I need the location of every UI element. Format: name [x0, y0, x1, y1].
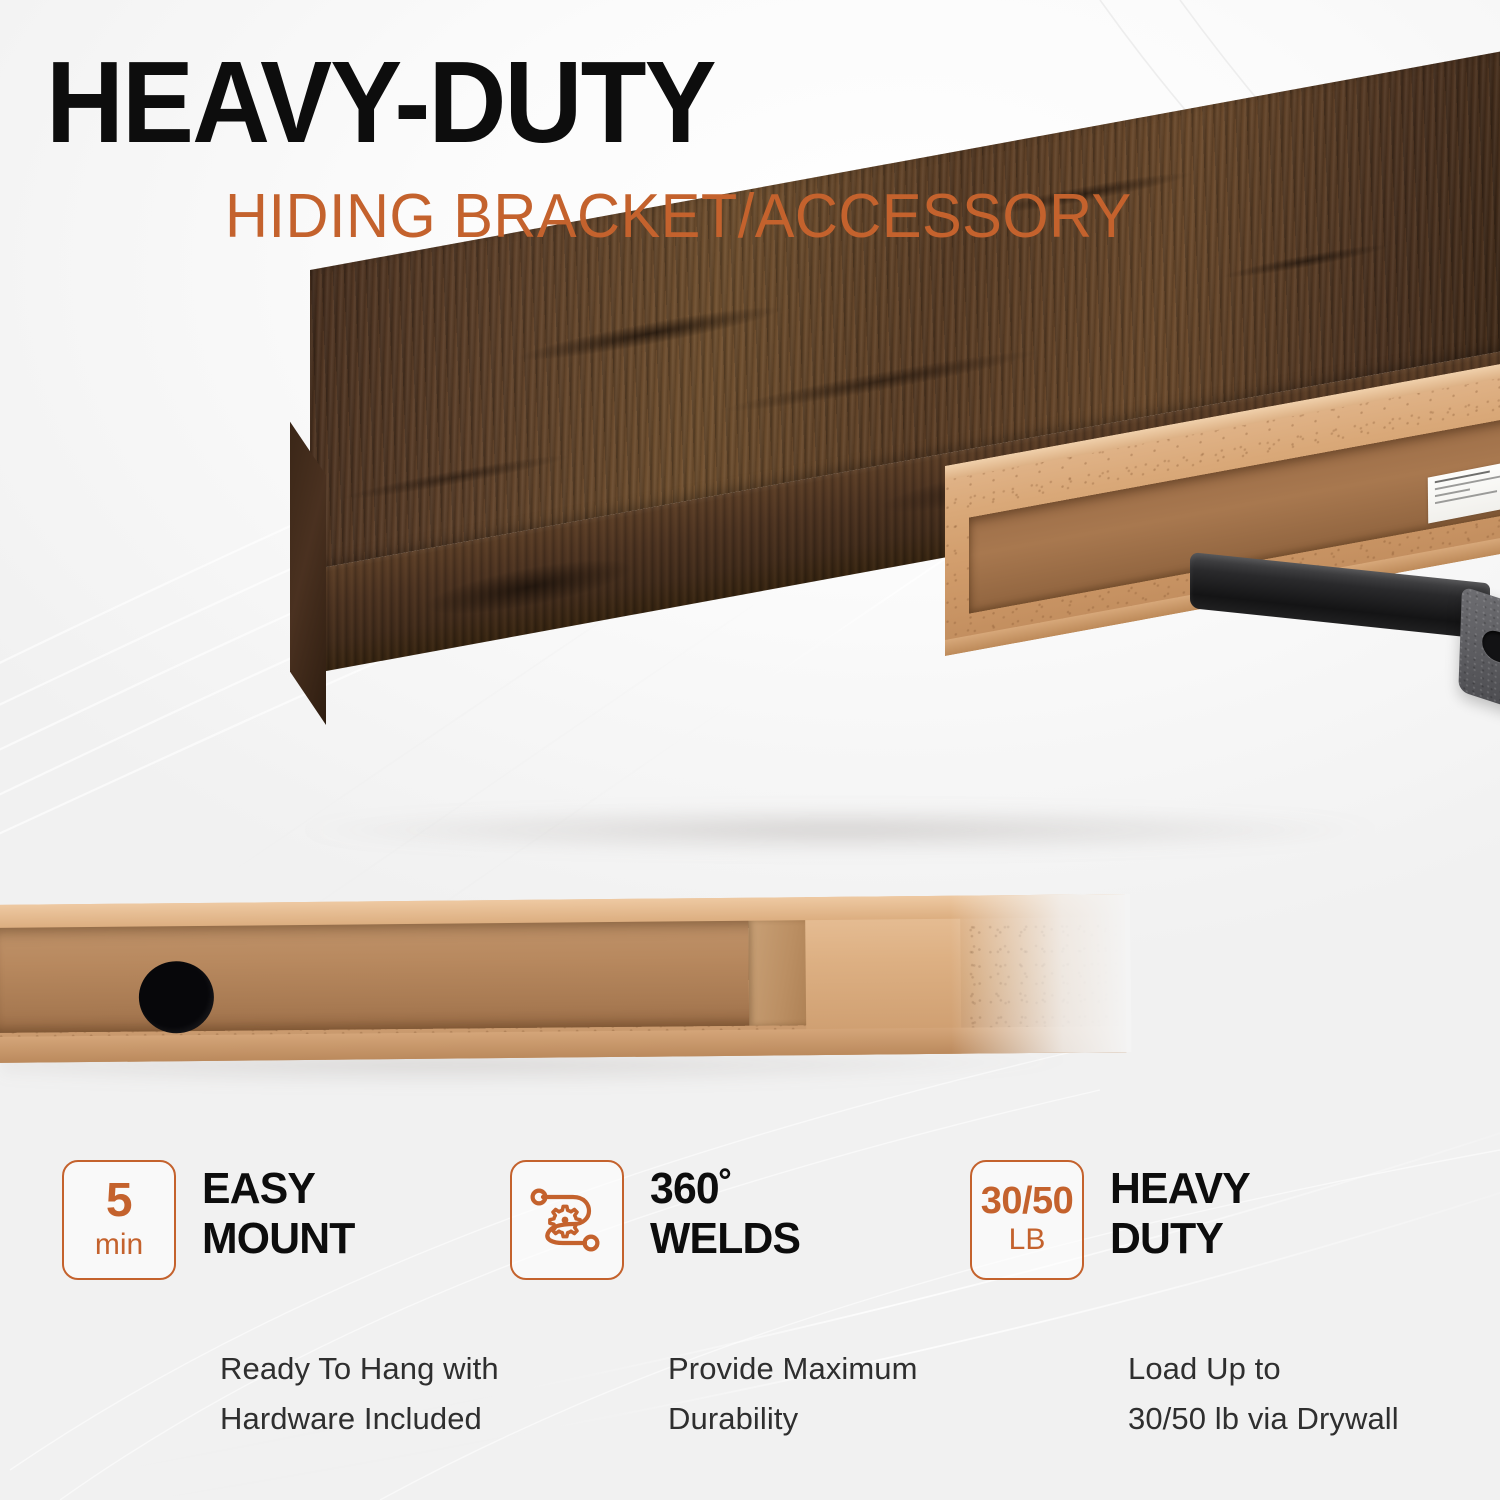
weld-path-gear-icon-container — [510, 1160, 624, 1280]
cutaway-right-fade — [950, 894, 1132, 1054]
feature-easy-mount: 5 min EASY MOUNT Ready To Hang with Hard… — [0, 1160, 500, 1500]
cutaway-end-wall — [748, 919, 809, 1026]
badge-value: 5 — [106, 1177, 132, 1225]
feature-title: EASY MOUNT — [202, 1160, 355, 1264]
page-subtitle: HIDING BRACKET/ACCESSORY — [225, 186, 1132, 248]
load-capacity-badge: 30/50 LB — [970, 1160, 1084, 1280]
feature-description: Ready To Hang with Hardware Included — [62, 1344, 500, 1444]
feature-heavy-duty: 30/50 LB HEAVY DUTY Load Up to 30/50 lb … — [970, 1160, 1470, 1500]
badge-unit: min — [95, 1227, 143, 1263]
feature-header: 30/50 LB HEAVY DUTY — [970, 1160, 1470, 1280]
feature-title: HEAVY DUTY — [1110, 1160, 1250, 1264]
plate-texture — [1458, 586, 1500, 759]
hidden-mounting-bracket — [1190, 528, 1500, 728]
hero-product-image — [0, 250, 1500, 870]
feature-description: Load Up to 30/50 lb via Drywall — [970, 1344, 1470, 1444]
badge-value: 30/50 — [981, 1182, 1074, 1220]
badge-unit: LB — [1009, 1222, 1046, 1258]
cutaway-hollow-channel — [0, 919, 806, 1033]
feature-360-welds: 360˚ WELDS Provide Maximum Durability — [500, 1160, 970, 1500]
feature-header: 360˚ WELDS — [510, 1160, 970, 1280]
bracket-rod — [1190, 552, 1490, 640]
page-title: HEAVY-DUTY — [46, 44, 715, 160]
feature-description: Provide Maximum Durability — [510, 1344, 970, 1444]
weld-path-gear-icon — [529, 1185, 605, 1255]
strip-drop-shadow — [0, 1057, 1090, 1087]
cutaway-mounting-hole — [139, 961, 215, 1034]
feature-title: 360˚ WELDS — [650, 1160, 800, 1264]
gear-glyph — [550, 1206, 580, 1236]
five-minute-badge: 5 min — [62, 1160, 176, 1280]
feature-header: 5 min EASY MOUNT — [62, 1160, 500, 1280]
detail-cutaway-image — [0, 905, 1500, 1095]
bracket-mounting-plate — [1458, 586, 1500, 759]
shelf-left-end-cap — [290, 422, 326, 725]
feature-list: 5 min EASY MOUNT Ready To Hang with Hard… — [0, 1160, 1500, 1500]
shelf-cutaway-channel — [0, 894, 1126, 1063]
floating-shelf — [290, 270, 1500, 830]
